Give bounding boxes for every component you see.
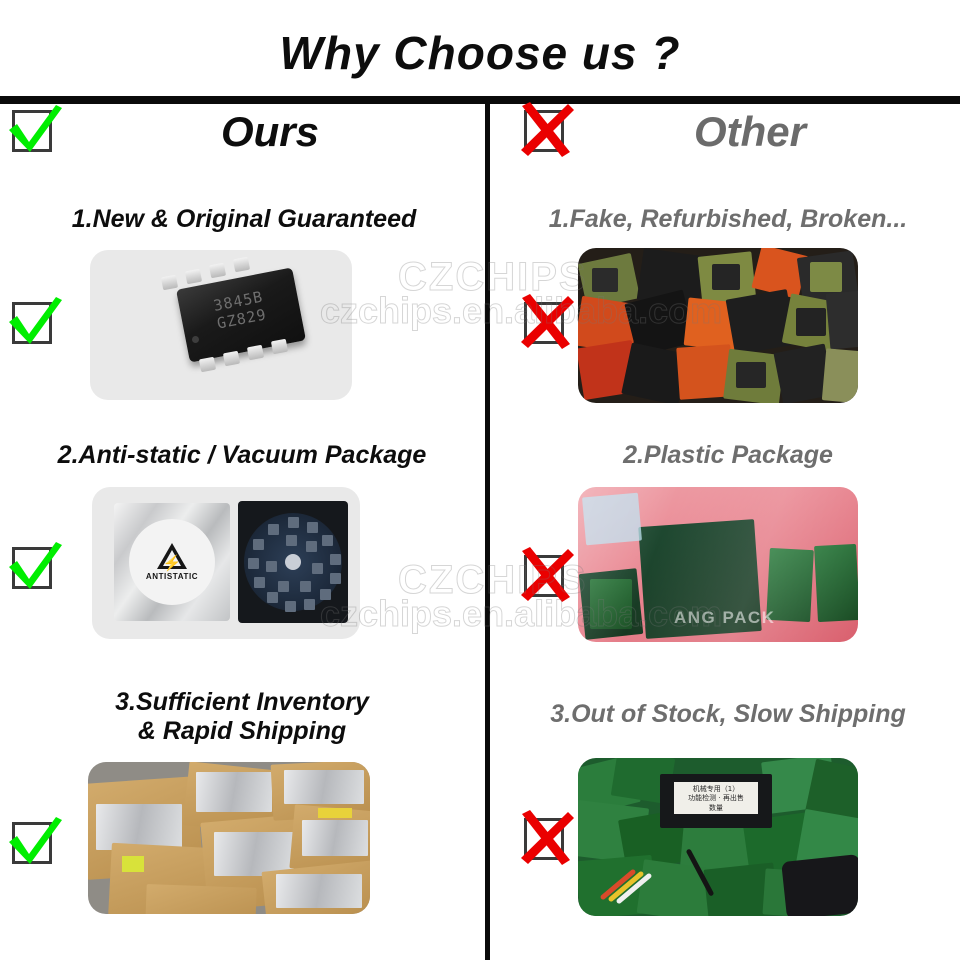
photo-plastic-package: ANG PACK	[578, 487, 858, 642]
feature-label-other-3: 3.Out of Stock, Slow Shipping	[498, 700, 958, 729]
antistatic-bag: ⚡ ANTISTATIC	[114, 503, 230, 621]
labelled-black-box: 机械专用（1） 功能检测 · 再出售 数量	[660, 774, 772, 828]
column-heading-other: Other	[560, 108, 940, 156]
feature-label-ours-2: 2.Anti-static / Vacuum Package	[8, 441, 476, 470]
feature-label-other-2: 2.Plastic Package	[500, 441, 956, 470]
antistatic-disc: ⚡ ANTISTATIC	[129, 519, 215, 605]
cross-icon	[516, 545, 576, 605]
cross-icon	[516, 808, 576, 868]
check-icon	[4, 100, 64, 160]
component-reel	[238, 501, 348, 623]
check-icon	[4, 812, 64, 872]
check-icon	[4, 537, 64, 597]
feature-label-ours-1: 1.New & Original Guaranteed	[18, 205, 470, 234]
column-divider	[485, 104, 490, 960]
photo-inventory-cartons	[88, 762, 370, 914]
reel-disc	[244, 513, 342, 611]
header-divider	[0, 96, 960, 104]
reel-hub	[285, 554, 301, 570]
feature-label-other-1: 1.Fake, Refurbished, Broken...	[500, 205, 956, 234]
comparison-infographic: Why Choose us ? Ours Other 1.New & Origi…	[0, 0, 960, 960]
photo-scrap-chip-pile	[578, 248, 858, 403]
black-box-label: 机械专用（1） 功能检测 · 再出售 数量	[674, 782, 758, 814]
photo-soic-chip: 3845B GZ829	[90, 250, 352, 400]
photo-antistatic-package: ⚡ ANTISTATIC	[92, 487, 360, 639]
page-title: Why Choose us ?	[0, 26, 960, 80]
column-heading-ours: Ours	[70, 108, 470, 156]
antistatic-label: ANTISTATIC	[146, 572, 198, 581]
cross-icon	[516, 100, 576, 160]
lightning-bolt-icon: ⚡	[163, 556, 182, 571]
feature-label-ours-3: 3.Sufficient Inventory & Rapid Shipping	[8, 688, 476, 746]
chip-marking: 3845B GZ829	[179, 281, 302, 339]
photo-pcb-scrap: 机械专用（1） 功能检测 · 再出售 数量	[578, 758, 858, 916]
plastic-bag-text: ANG PACK	[674, 608, 775, 628]
cross-icon	[516, 292, 576, 352]
check-icon	[4, 292, 64, 352]
